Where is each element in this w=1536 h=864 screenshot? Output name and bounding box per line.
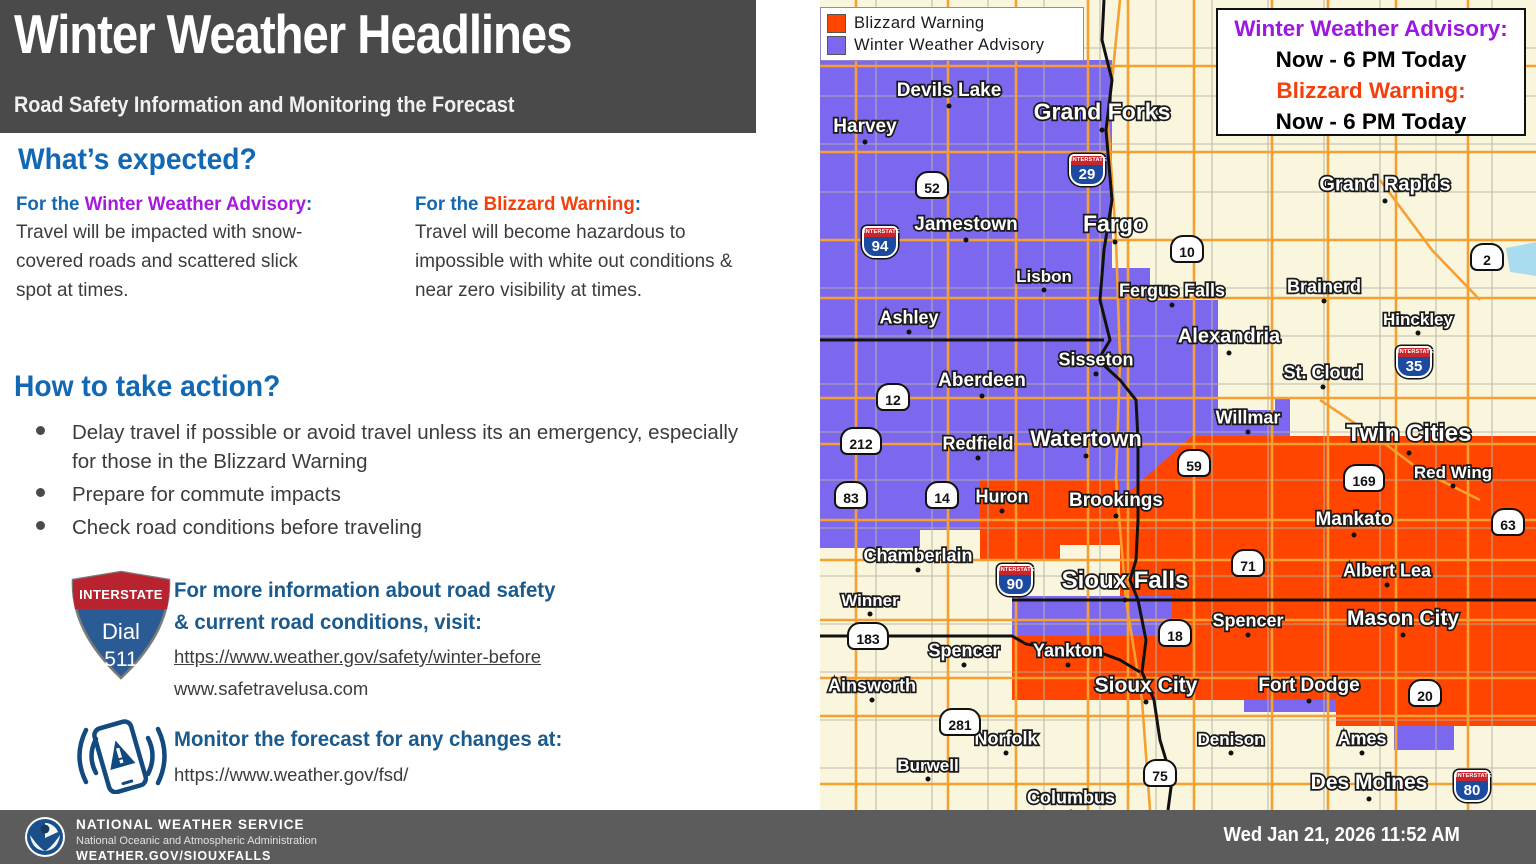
action-bullet-list: Delay travel if possible or avoid travel… xyxy=(26,418,766,546)
alert-advisory-time: Now - 6 PM Today xyxy=(1218,44,1524,75)
expected-advisory-heading: For the Winter Weather Advisory: xyxy=(16,193,362,216)
city-dot xyxy=(907,330,912,335)
interstate-shield-80: INTERSTATE80 xyxy=(1454,770,1490,802)
city-dot xyxy=(1451,484,1456,489)
section-heading-expected: What’s expected? xyxy=(18,143,257,177)
alert-timing-box: Winter Weather Advisory: Now - 6 PM Toda… xyxy=(1216,8,1526,136)
city-dot xyxy=(926,777,931,782)
city-dot xyxy=(1407,450,1412,455)
city-dot xyxy=(1113,239,1118,244)
bullet-dot-icon xyxy=(36,426,45,435)
monitor-forecast-block: Monitor the forecast for any changes at:… xyxy=(68,718,768,798)
warning-map[interactable]: Blizzard Warning Winter Weather Advisory… xyxy=(820,0,1536,810)
city-dot xyxy=(1000,509,1005,514)
shield-banner: INTERSTATE xyxy=(1071,156,1103,165)
legend-item-advisory: Winter Weather Advisory xyxy=(827,34,1077,56)
legend-swatch-advisory xyxy=(827,36,846,55)
shield-number: 35 xyxy=(1398,357,1430,377)
road-safety-text: For more information about road safety &… xyxy=(174,575,754,703)
expected-column-advisory: For the Winter Weather Advisory: Travel … xyxy=(16,193,376,305)
city-dot xyxy=(1042,288,1047,293)
city-dot xyxy=(1321,385,1326,390)
city-dot xyxy=(1123,597,1128,602)
interstate-511-shield-icon: INTERSTATE Dial 511 xyxy=(68,569,174,681)
city-dot xyxy=(964,237,969,242)
road-safety-block: INTERSTATE Dial 511 For more information… xyxy=(68,565,768,695)
legend-item-blizzard: Blizzard Warning xyxy=(827,12,1077,34)
list-item: Delay travel if possible or avoid travel… xyxy=(26,418,746,476)
us-route-shield-20: 20 xyxy=(1408,679,1442,707)
road-safety-heading-line2: & current road conditions, visit: xyxy=(174,607,737,639)
monitor-heading: Monitor the forecast for any changes at: xyxy=(174,724,562,756)
city-dot xyxy=(1360,751,1365,756)
list-item: Prepare for commute impacts xyxy=(26,480,746,509)
forecast-link[interactable]: https://www.weather.gov/fsd/ xyxy=(174,762,574,788)
city-dot xyxy=(1246,633,1251,638)
alert-advisory-title: Winter Weather Advisory: xyxy=(1218,13,1524,44)
us-route-shield-18: 18 xyxy=(1158,619,1192,647)
bullet-dot-icon xyxy=(36,521,45,530)
shield-top-label: INTERSTATE xyxy=(79,587,163,602)
shield-number: 94 xyxy=(864,237,896,257)
expected-column-blizzard: For the Blizzard Warning: Travel will be… xyxy=(415,193,775,305)
city-dot xyxy=(863,139,868,144)
nws-branding: NATIONAL WEATHER SERVICE National Oceani… xyxy=(76,817,317,864)
shield-banner: INTERSTATE xyxy=(864,228,896,237)
expected-blizzard-body: Travel will become hazardous to impossib… xyxy=(415,218,735,305)
winter-safety-link[interactable]: https://www.weather.gov/safety/winter-be… xyxy=(174,644,754,670)
shield-number: 90 xyxy=(999,575,1031,595)
us-route-shield-71: 71 xyxy=(1231,549,1265,577)
us-route-shield-169: 169 xyxy=(1343,464,1385,492)
us-route-shield-83: 83 xyxy=(834,481,868,509)
city-dot xyxy=(1367,797,1372,802)
us-route-shield-10: 10 xyxy=(1170,235,1204,263)
alert-blizzard-time: Now - 6 PM Today xyxy=(1218,106,1524,137)
city-dot xyxy=(1066,663,1071,668)
city-dot xyxy=(1307,698,1312,703)
us-route-shield-281: 281 xyxy=(939,708,981,736)
safetravel-link[interactable]: www.safetravelusa.com xyxy=(174,676,754,702)
shield-banner: INTERSTATE xyxy=(1456,772,1488,781)
shield-number-label: 511 xyxy=(104,648,137,671)
us-route-shield-75: 75 xyxy=(1143,759,1177,787)
phone-alert-icon xyxy=(74,718,172,794)
interstate-shield-35: INTERSTATE35 xyxy=(1396,346,1432,378)
city-dot xyxy=(1229,751,1234,756)
legend-label-advisory: Winter Weather Advisory xyxy=(854,36,1044,55)
city-dot xyxy=(870,698,875,703)
section-heading-action: How to take action? xyxy=(14,370,280,404)
city-dot xyxy=(868,612,873,617)
shield-banner: INTERSTATE xyxy=(1398,348,1430,357)
us-route-shield-2: 2 xyxy=(1470,243,1504,271)
nws-agency-name: NATIONAL WEATHER SERVICE xyxy=(76,817,317,834)
shield-number: 29 xyxy=(1071,165,1103,185)
city-dot xyxy=(1144,700,1149,705)
bullet-dot-icon xyxy=(36,488,45,497)
city-dot xyxy=(1416,331,1421,336)
nws-website: WEATHER.GOV/SIOUXFALLS xyxy=(76,848,317,864)
info-panel: Winter Weather Headlines Road Safety Inf… xyxy=(0,0,812,810)
page-subtitle: Road Safety Information and Monitoring t… xyxy=(14,92,515,118)
nws-footer: NATIONAL WEATHER SERVICE National Oceani… xyxy=(0,810,1536,864)
interstate-shield-90: INTERSTATE90 xyxy=(997,564,1033,596)
title-banner: Winter Weather Headlines Road Safety Inf… xyxy=(0,0,756,133)
monitor-forecast-text: Monitor the forecast for any changes at:… xyxy=(174,724,574,788)
shield-dial-label: Dial xyxy=(102,619,140,644)
interstate-shield-94: INTERSTATE94 xyxy=(862,226,898,258)
city-dot xyxy=(1227,350,1232,355)
map-legend: Blizzard Warning Winter Weather Advisory xyxy=(820,7,1084,61)
city-dot xyxy=(1114,513,1119,518)
city-dot xyxy=(1246,430,1251,435)
expected-advisory-body: Travel will be impacted with snow-covere… xyxy=(16,218,336,305)
city-dot xyxy=(1322,299,1327,304)
issue-timestamp: Wed Jan 21, 2026 11:52 AM xyxy=(1224,824,1460,847)
noaa-logo-icon xyxy=(24,816,66,858)
us-route-shield-212: 212 xyxy=(840,427,882,455)
road-safety-heading-line1: For more information about road safety xyxy=(174,575,737,607)
shield-banner: INTERSTATE xyxy=(999,566,1031,575)
expected-blizzard-heading: For the Blizzard Warning: xyxy=(415,193,761,216)
legend-label-blizzard: Blizzard Warning xyxy=(854,14,985,33)
city-dot xyxy=(1100,127,1105,132)
us-route-shield-59: 59 xyxy=(1177,449,1211,477)
city-dot xyxy=(1170,303,1175,308)
city-dot xyxy=(1383,198,1388,203)
us-route-shield-63: 63 xyxy=(1491,508,1525,536)
us-route-shield-183: 183 xyxy=(847,622,889,650)
city-dot xyxy=(916,568,921,573)
city-dot xyxy=(1084,454,1089,459)
advisory-polygon-nw-iowa xyxy=(1012,596,1172,636)
city-dot xyxy=(1385,583,1390,588)
us-route-shield-52: 52 xyxy=(915,171,949,199)
page-title: Winter Weather Headlines xyxy=(14,6,571,64)
list-item: Check road conditions before traveling xyxy=(26,513,746,542)
list-item-label: Prepare for commute impacts xyxy=(72,483,341,506)
list-item-label: Delay travel if possible or avoid travel… xyxy=(72,421,738,473)
us-route-shield-12: 12 xyxy=(876,383,910,411)
city-dot xyxy=(1094,372,1099,377)
city-dot xyxy=(1004,751,1009,756)
city-dot xyxy=(1401,633,1406,638)
legend-swatch-blizzard xyxy=(827,14,846,33)
city-dot xyxy=(947,103,952,108)
city-dot xyxy=(980,393,985,398)
list-item-label: Check road conditions before traveling xyxy=(72,516,422,539)
noaa-parent-name: National Oceanic and Atmospheric Adminis… xyxy=(76,834,317,848)
shield-number: 80 xyxy=(1456,781,1488,801)
city-dot xyxy=(976,456,981,461)
alert-blizzard-title: Blizzard Warning: xyxy=(1218,75,1524,106)
lake-water xyxy=(1506,242,1536,276)
city-dot xyxy=(962,663,967,668)
city-dot xyxy=(1352,532,1357,537)
interstate-shield-29: INTERSTATE29 xyxy=(1069,154,1105,186)
us-route-shield-14: 14 xyxy=(925,481,959,509)
